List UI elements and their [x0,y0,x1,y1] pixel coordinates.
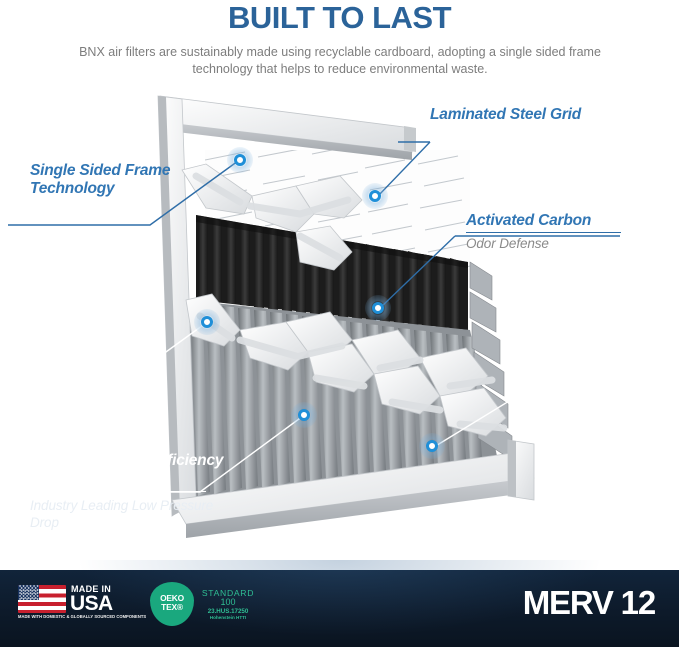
callout-subtitle: Industry Leading Low Pressure Drop [30,497,240,531]
marker-single-sided-frame[interactable] [227,147,253,173]
usa-label: USA [70,592,113,616]
callout-subtitle: Odor Defense [466,235,666,252]
callout-title: Activated Carbon [466,212,666,230]
infographic-canvas: BUILT TO LAST BNX air filters are sustai… [0,0,679,647]
oeko-standard-number: 100 [198,597,258,607]
callout-divider [466,232,621,233]
oeko-tex-badge: OEKO TEX® STANDARD 100 23.HUS.17250 Hohe… [150,582,258,626]
callout-single-sided-frame-technology: Single Sided Frame Technology [30,162,210,197]
callout-title: Proprietary High Efficiency Filtration [30,452,240,487]
page-title: BUILT TO LAST [0,0,679,36]
oeko-institute: Hohenstein HTTI [198,615,258,620]
callout-title: Diagonal Support [32,336,202,354]
callout-title: Single Sided Frame Technology [30,162,210,197]
usa-fine-print: MADE WITH DOMESTIC & GLOBALLY SOURCED CO… [18,614,144,619]
merv-rating: MERV 12 [523,584,655,622]
callout-divider [30,491,206,492]
page-subtitle: BNX air filters are sustainably made usi… [60,44,620,78]
callout-activated-carbon: Activated Carbon Odor Defense [466,212,666,252]
oeko-mark-line2: TEX® [150,603,194,612]
callout-laminated-steel-grid: Laminated Steel Grid [430,106,640,124]
marker-activated-carbon[interactable] [365,295,391,321]
callout-leader-lines [0,0,679,647]
oeko-tex-shield-icon: OEKO TEX® [150,582,194,626]
marker-higher-pleat-count[interactable] [419,433,445,459]
marker-laminated-steel-grid[interactable] [362,183,388,209]
oeko-certificate-number: 23.HUS.17250 [198,608,258,615]
callout-title: Higher Pleat Count [524,342,674,360]
made-in-usa-badge: ★★★★★★★★★★★★★★★★★★★★★★★★★★★★★★★★★★★★★★★★… [18,583,143,625]
callout-title: Laminated Steel Grid [430,106,640,124]
callout-diagonal-support: Diagonal Support [32,336,202,354]
callout-higher-pleat-count: Higher Pleat Count [524,342,674,360]
marker-diagonal-support[interactable] [194,309,220,335]
marker-proprietary-filtration[interactable] [291,402,317,428]
usa-flag-icon: ★★★★★★★★★★★★★★★★★★★★★★★★★★★★★★★★★★★★★★★★… [18,585,66,613]
callout-proprietary-high-efficiency-filtration: Proprietary High Efficiency Filtration I… [30,452,240,531]
